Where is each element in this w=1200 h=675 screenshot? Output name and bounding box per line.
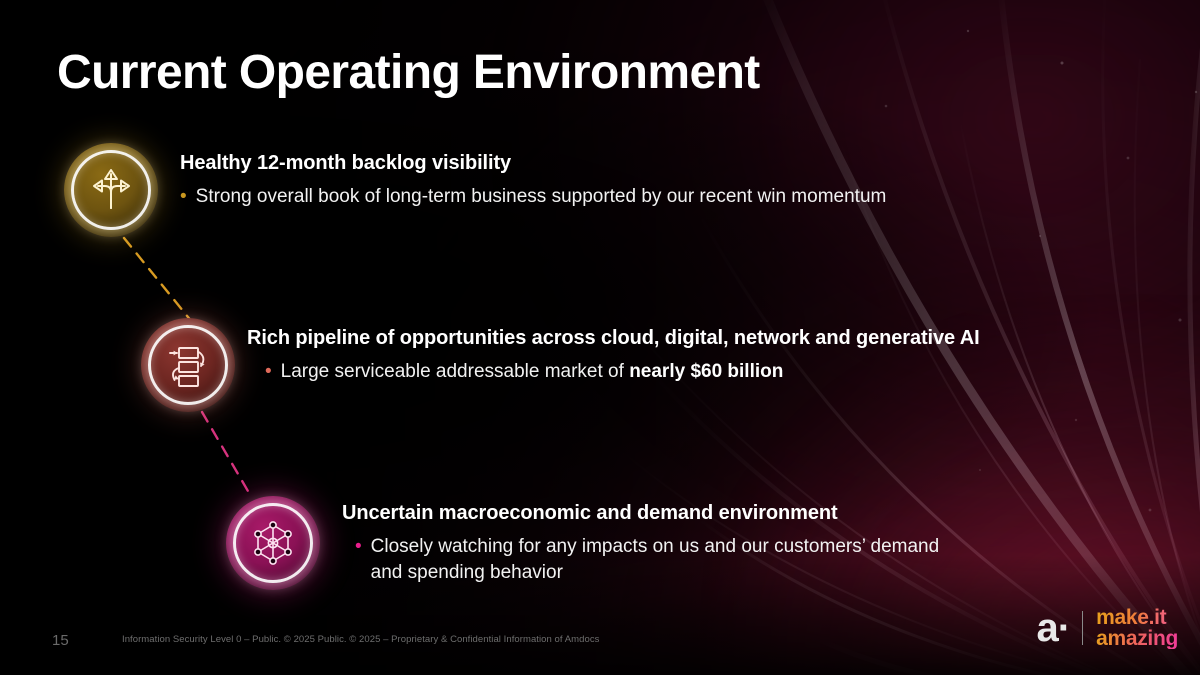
network-hexagon-icon [226,496,320,590]
point-1-badge[interactable] [64,143,158,237]
point-1-bullet-row: • Strong overall book of long-term busin… [180,184,1060,210]
page-title: Current Operating Environment [57,45,760,100]
logo-divider [1082,611,1083,645]
point-3-bullet-row: • Closely watching for any impacts on us… [355,534,1200,586]
point-2-badge[interactable] [141,318,235,412]
bullet-dot: • [180,184,187,210]
point-1-bullet-text: Strong overall book of long-term busines… [196,184,887,210]
logo-tagline: make.it amazing [1096,607,1178,649]
pipeline-flow-icon [141,318,235,412]
point-3-heading: Uncertain macroeconomic and demand envir… [342,502,1200,525]
bullet-dot: • [265,359,272,385]
slide-canvas: Current Operating Environment [0,0,1200,675]
point-2-bullet-text: Large serviceable addressable market of … [281,359,784,385]
point-2-bullet-row: • Large serviceable addressable market o… [265,359,1147,385]
point-3-bullet-text: Closely watching for any impacts on us a… [371,534,940,586]
tagline-line-2: amazing [1096,628,1178,649]
point-3-badge[interactable] [226,496,320,590]
amdocs-logo: a· make.it amazing [1037,605,1179,651]
three-way-arrow-icon [64,143,158,237]
point-1-heading: Healthy 12-month backlog visibility [180,152,1060,175]
legal-disclaimer: Information Security Level 0 – Public. ©… [122,634,599,645]
page-number: 15 [52,632,69,649]
tagline-line-1: make.it [1096,607,1178,628]
point-1-text: Healthy 12-month backlog visibility • St… [180,152,1060,210]
point-2-text: Rich pipeline of opportunities across cl… [247,327,1147,385]
amdocs-wordmark: a· [1037,608,1071,648]
point-3-text: Uncertain macroeconomic and demand envir… [342,502,1200,586]
point-2-heading: Rich pipeline of opportunities across cl… [247,327,1147,350]
bullet-dot: • [355,534,362,560]
